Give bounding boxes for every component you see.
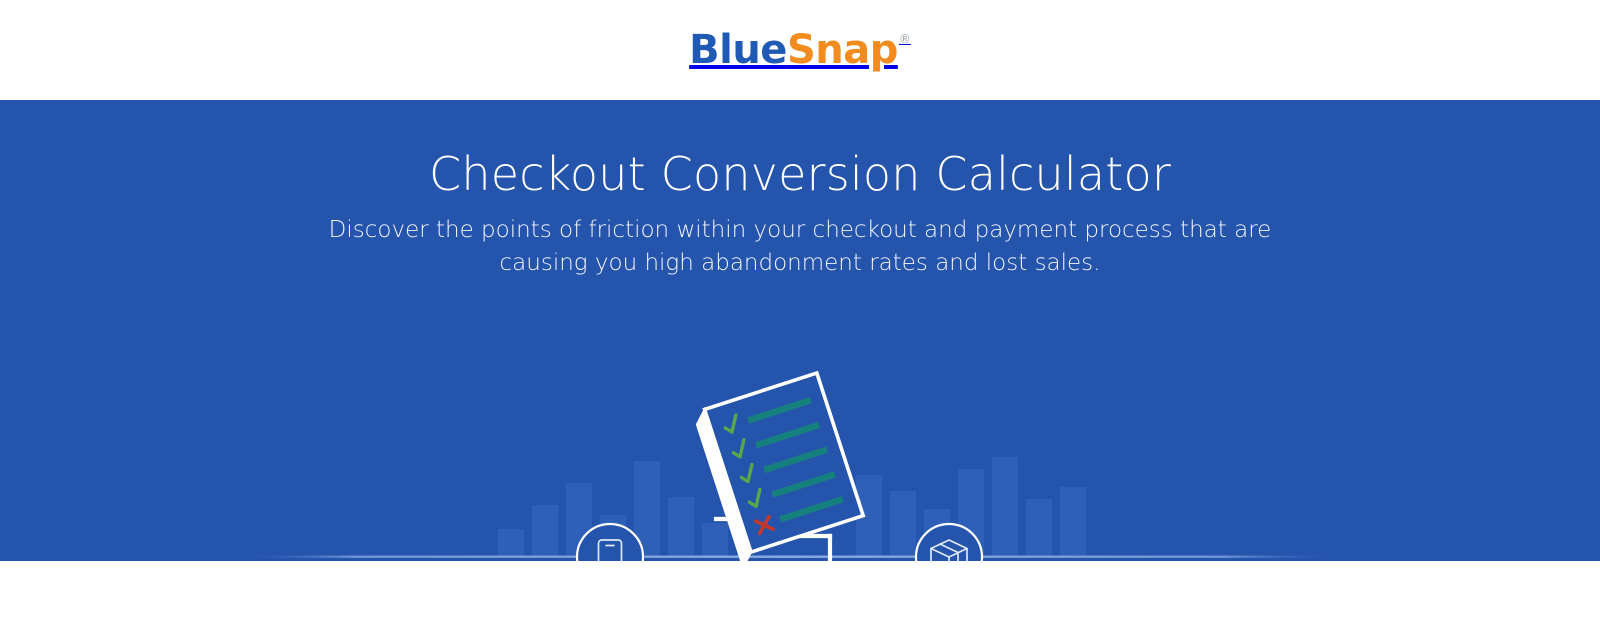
- footer-strip: [0, 561, 1600, 621]
- bluesnap-logo[interactable]: Blue Snap ®: [689, 30, 911, 70]
- page-title: Checkout Conversion Calculator: [0, 148, 1600, 201]
- checkout-journey-illustration: [0, 260, 1600, 561]
- site-header: Blue Snap ®: [0, 0, 1600, 100]
- journey-line: [248, 556, 1330, 558]
- illustration-svg: [0, 260, 1600, 561]
- registered-mark-icon: ®: [899, 33, 911, 45]
- page-root: Blue Snap ® Checkout Conversion Calculat…: [0, 0, 1600, 621]
- logo-text-blue: Blue: [689, 30, 787, 70]
- logo-text-orange: Snap: [787, 30, 898, 70]
- hero-section: Checkout Conversion Calculator Discover …: [0, 100, 1600, 561]
